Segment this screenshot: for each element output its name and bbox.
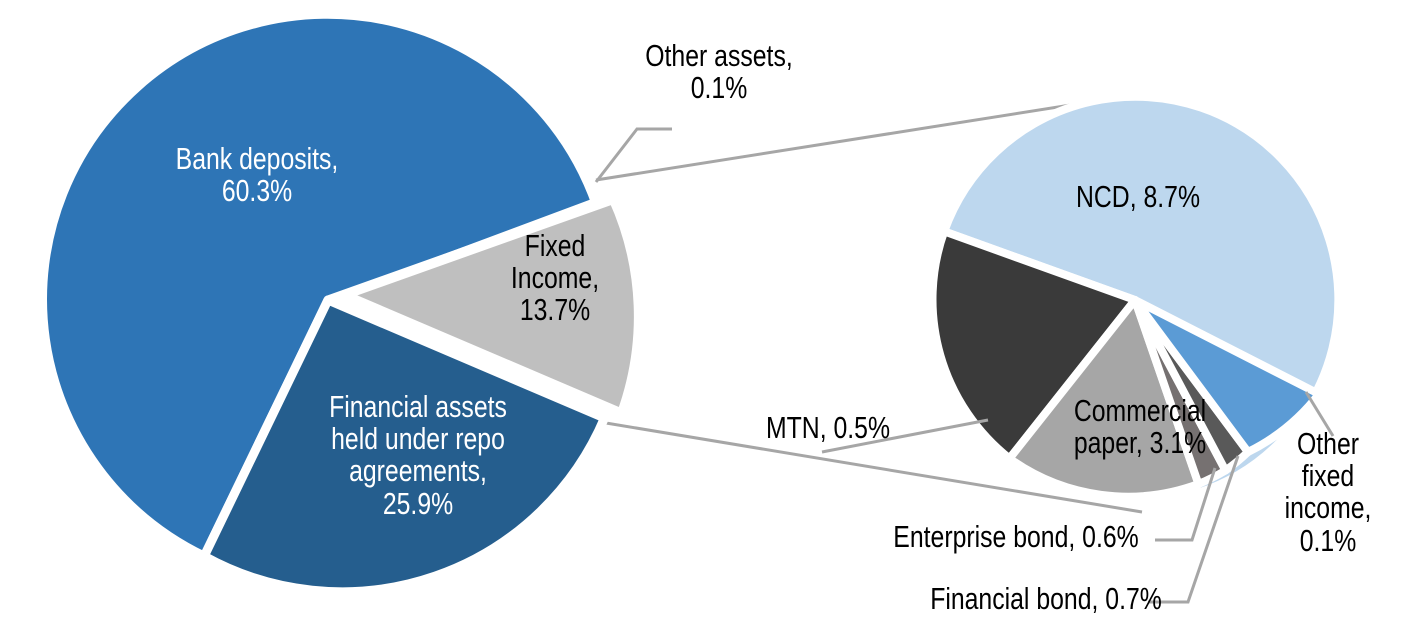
label-enterprise-bond: Enterprise bond, 0.6% bbox=[848, 521, 1184, 553]
label-other-assets: Other assets, 0.1% bbox=[603, 40, 835, 104]
label-mtn: MTN, 0.5% bbox=[732, 412, 924, 444]
label-ncd: NCD, 8.7% bbox=[1030, 181, 1246, 213]
label-fixed-income: Fixed Income, 13.7% bbox=[475, 230, 635, 327]
label-other-fixed-income: Other fixed income, 0.1% bbox=[1264, 428, 1392, 557]
label-bank-deposits: Bank deposits, 60.3% bbox=[141, 143, 373, 207]
label-repo-agreements: Financial assets held under repo agreeme… bbox=[278, 391, 558, 520]
label-financial-bond: Financial bond, 0.7% bbox=[878, 583, 1214, 615]
label-commercial-paper: Commercial paper, 3.1% bbox=[1032, 395, 1248, 459]
pie-chart-figure: Bank deposits, 60.3% Fixed Income, 13.7%… bbox=[0, 0, 1404, 644]
